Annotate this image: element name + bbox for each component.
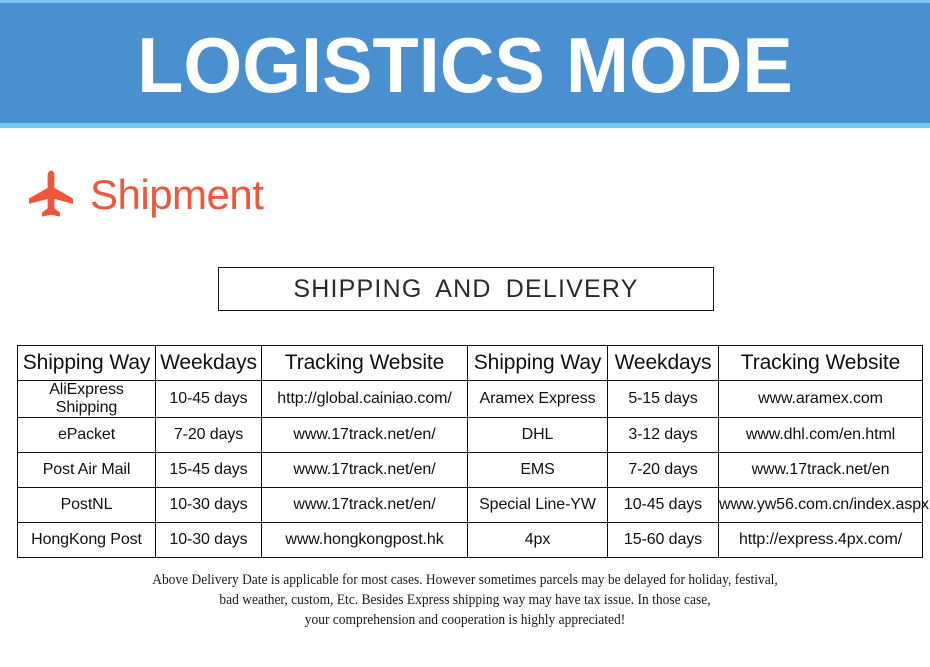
shipment-label: Shipment xyxy=(90,174,263,216)
cell-tracking-website-left[interactable]: www.17track.net/en/ xyxy=(262,453,468,488)
column-header-weekdays-left: Weekdays xyxy=(156,346,262,381)
cell-weekdays-right: 7-20 days xyxy=(608,453,719,488)
cell-shipping-way-left: ePacket xyxy=(18,418,156,453)
cell-weekdays-right: 5-15 days xyxy=(608,381,719,418)
cell-tracking-website-right[interactable]: www.dhl.com/en.html xyxy=(719,418,923,453)
shipment-heading: Shipment xyxy=(24,168,263,222)
cell-weekdays-right: 10-45 days xyxy=(608,488,719,523)
cell-weekdays-left: 7-20 days xyxy=(156,418,262,453)
column-header-shipping-way-left: Shipping Way xyxy=(18,346,156,381)
cell-tracking-website-right[interactable]: www.yw56.com.cn/index.aspx xyxy=(719,488,923,523)
disclaimer-line-1: Above Delivery Date is applicable for mo… xyxy=(33,570,898,590)
table-row: PostNL 10-30 days www.17track.net/en/ Sp… xyxy=(18,488,923,523)
column-header-shipping-way-right: Shipping Way xyxy=(468,346,608,381)
table-row: ePacket 7-20 days www.17track.net/en/ DH… xyxy=(18,418,923,453)
cell-weekdays-right: 15-60 days xyxy=(608,523,719,558)
cell-tracking-website-left[interactable]: www.17track.net/en/ xyxy=(262,418,468,453)
cell-tracking-website-left[interactable]: www.17track.net/en/ xyxy=(262,488,468,523)
table-row: Post Air Mail 15-45 days www.17track.net… xyxy=(18,453,923,488)
banner-underline xyxy=(0,123,930,128)
column-header-tracking-website-right: Tracking Website xyxy=(719,346,923,381)
cell-shipping-way-right: DHL xyxy=(468,418,608,453)
logistics-banner: LOGISTICS MODE xyxy=(0,0,930,123)
shipping-methods-table: Shipping Way Weekdays Tracking Website S… xyxy=(17,345,923,558)
table-row: AliExpress Shipping 10-45 days http://gl… xyxy=(18,381,923,418)
cell-shipping-way-right: Special Line-YW xyxy=(468,488,608,523)
cell-tracking-website-left[interactable]: http://global.cainiao.com/ xyxy=(262,381,468,418)
cell-weekdays-left: 10-30 days xyxy=(156,523,262,558)
cell-weekdays-left: 15-45 days xyxy=(156,453,262,488)
cell-weekdays-left: 10-45 days xyxy=(156,381,262,418)
table-row: HongKong Post 10-30 days www.hongkongpos… xyxy=(18,523,923,558)
disclaimer-line-3: your comprehension and cooperation is hi… xyxy=(33,610,898,630)
column-header-weekdays-right: Weekdays xyxy=(608,346,719,381)
column-header-tracking-website-left: Tracking Website xyxy=(262,346,468,381)
cell-shipping-way-left: Post Air Mail xyxy=(18,453,156,488)
cell-shipping-way-right: 4px xyxy=(468,523,608,558)
cell-tracking-website-left[interactable]: www.hongkongpost.hk xyxy=(262,523,468,558)
cell-weekdays-left: 10-30 days xyxy=(156,488,262,523)
cell-shipping-way-right: Aramex Express xyxy=(468,381,608,418)
delivery-disclaimer: Above Delivery Date is applicable for mo… xyxy=(33,570,898,630)
cell-tracking-website-right[interactable]: www.17track.net/en xyxy=(719,453,923,488)
disclaimer-line-2: bad weather, custom, Etc. Besides Expres… xyxy=(33,590,898,610)
shipping-delivery-box: SHIPPING AND DELIVERY xyxy=(218,267,714,311)
shipping-delivery-title: SHIPPING AND DELIVERY xyxy=(293,275,638,304)
cell-shipping-way-left: HongKong Post xyxy=(18,523,156,558)
banner-title: LOGISTICS MODE xyxy=(137,26,793,104)
cell-tracking-website-right[interactable]: http://express.4px.com/ xyxy=(719,523,923,558)
cell-tracking-website-right[interactable]: www.aramex.com xyxy=(719,381,923,418)
table-header-row: Shipping Way Weekdays Tracking Website S… xyxy=(18,346,923,381)
cell-shipping-way-right: EMS xyxy=(468,453,608,488)
cell-shipping-way-left: PostNL xyxy=(18,488,156,523)
airplane-icon xyxy=(24,168,78,222)
cell-weekdays-right: 3-12 days xyxy=(608,418,719,453)
cell-shipping-way-left: AliExpress Shipping xyxy=(18,381,156,418)
